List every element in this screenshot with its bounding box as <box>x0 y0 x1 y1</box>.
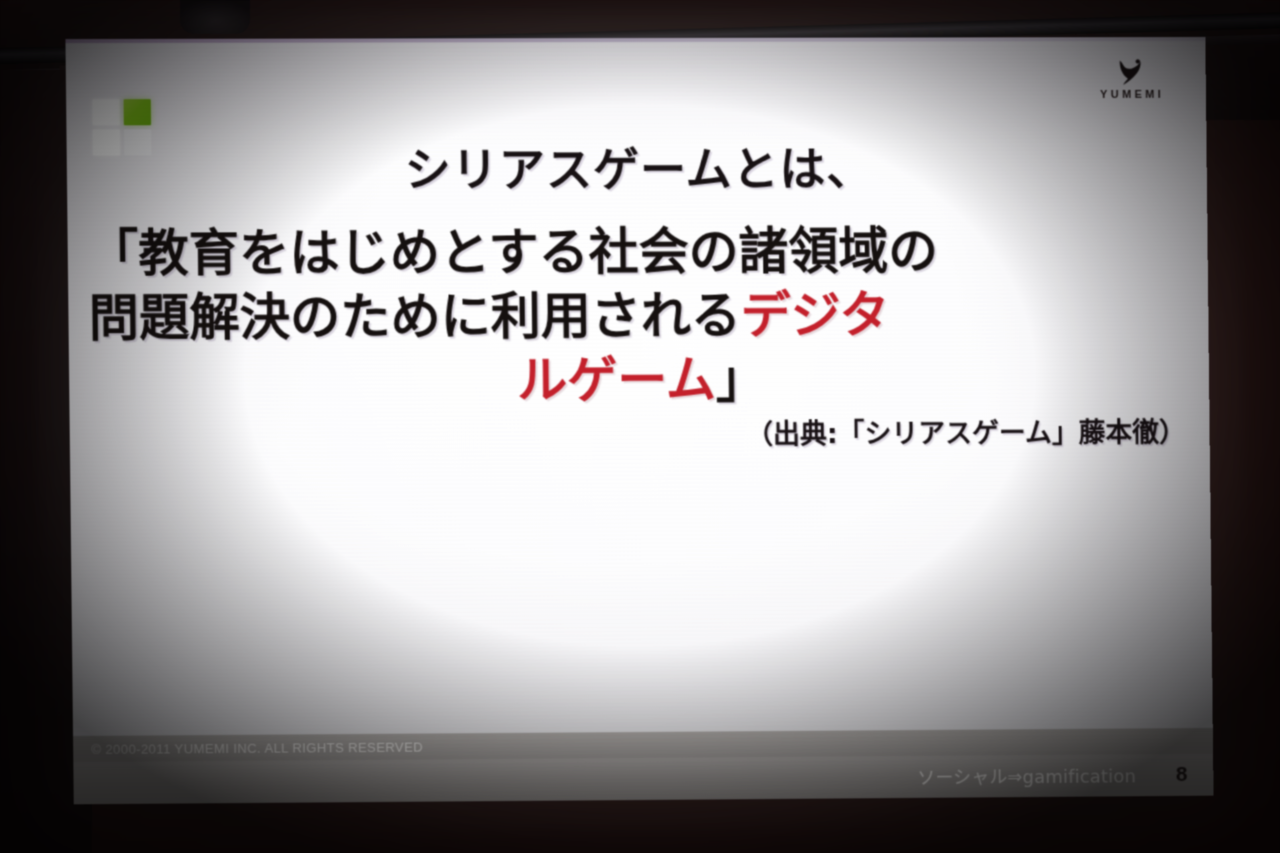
footer-section-bar: ソーシャル⇒gamification 8 <box>73 754 1213 805</box>
quote-line-2-black: 問題解決のために利用される <box>88 287 741 348</box>
slide-canvas: YUMEMI シリアスゲームとは、 「教育をはじめとする社会の諸領域の 問題解決… <box>65 37 1213 804</box>
square-top-left <box>92 99 120 125</box>
copyright-text: © 2000-2011 YUMEMI INC. ALL RIGHTS RESER… <box>73 739 423 757</box>
quote-body: 「教育をはじめとする社会の諸領域の 問題解決のために利用されるデジタ ルゲーム」 <box>75 218 1201 414</box>
photo-of-projected-slide: YUMEMI シリアスゲームとは、 「教育をはじめとする社会の諸領域の 問題解決… <box>0 0 1280 853</box>
quote-line-2: 問題解決のために利用されるデジタ <box>76 282 1201 350</box>
quote-line-3: ルゲーム」 <box>77 346 1202 415</box>
yumemi-logo: YUMEMI <box>1078 47 1182 111</box>
quote-line-2-red: デジタ <box>740 286 889 345</box>
quote-citation: （出典:「シリアスゲーム」藤本徹） <box>746 410 1186 451</box>
quote-line-1: 「教育をはじめとする社会の諸領域の <box>75 218 1200 286</box>
square-top-right <box>124 99 151 125</box>
projection-screen: YUMEMI シリアスゲームとは、 「教育をはじめとする社会の諸領域の 問題解決… <box>65 37 1213 804</box>
yumemi-swan-mark-icon <box>1113 57 1147 87</box>
ceiling-light-fixture <box>180 0 250 34</box>
quote-line-3-black: 」 <box>715 350 766 408</box>
slide-page-number: 8 <box>1176 763 1188 787</box>
slide-top-edge-glow <box>65 37 1205 43</box>
yumemi-wordmark: YUMEMI <box>1097 89 1164 101</box>
quote-line-3-red: ルゲーム <box>517 351 716 410</box>
slide-title: シリアスゲームとは、 <box>66 132 1207 201</box>
footer-section-label: ソーシャル⇒gamification <box>917 762 1136 790</box>
